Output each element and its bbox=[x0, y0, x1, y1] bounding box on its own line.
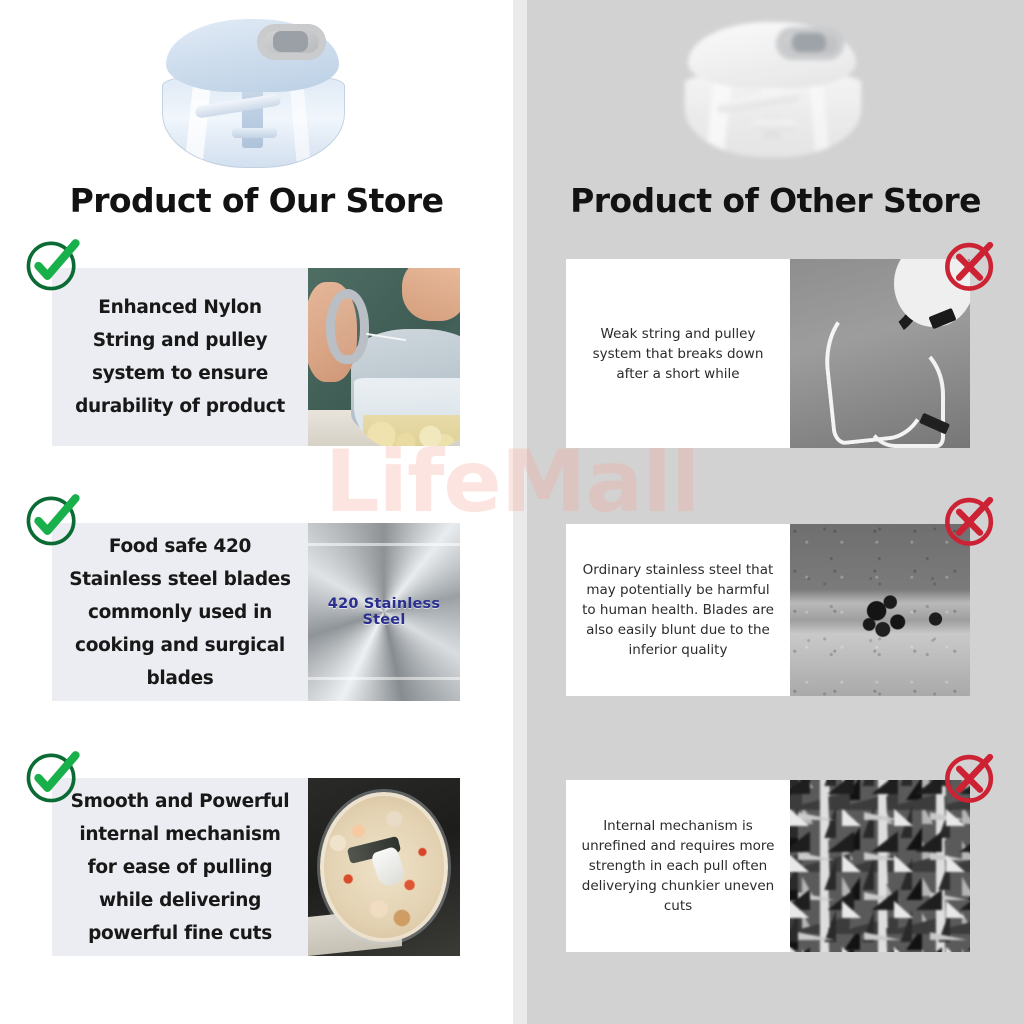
chopper-illustration bbox=[150, 6, 355, 171]
right-card-1-text-area: Weak string and pulley system that break… bbox=[566, 259, 790, 448]
chopper-handle-hole bbox=[792, 33, 826, 53]
x-circle-icon-1 bbox=[941, 236, 999, 294]
left-card-1-text: Enhanced Nylon String and pulley system … bbox=[66, 291, 294, 423]
brushed-steel-photo: 420 Stainless Steel bbox=[308, 523, 460, 701]
steel-highlight-bottom bbox=[308, 677, 460, 680]
loose-cord-lower bbox=[862, 342, 945, 448]
left-card-1-image bbox=[308, 268, 460, 446]
right-card-3-text-area: Internal mechanism is unrefined and requ… bbox=[566, 780, 790, 952]
left-card-2-text: Food safe 420 Stainless steel blades com… bbox=[66, 530, 294, 695]
left-card-3-image bbox=[308, 778, 460, 956]
chopper-illustration-faded bbox=[672, 10, 872, 160]
steel-highlight-top bbox=[308, 543, 460, 546]
left-feature-card-1: Enhanced Nylon String and pulley system … bbox=[52, 268, 460, 446]
chopped-vegetables-photo bbox=[308, 778, 460, 956]
rust-speck-cluster bbox=[858, 586, 919, 648]
pull-ring-handle bbox=[326, 289, 369, 364]
right-feature-card-1: Weak string and pulley system that break… bbox=[566, 259, 970, 448]
right-feature-card-3: Internal mechanism is unrefined and requ… bbox=[566, 780, 970, 952]
steel-grade-label: 420 Stainless Steel bbox=[308, 596, 460, 628]
x-circle-icon-2 bbox=[941, 491, 999, 549]
right-column-heading: Product of Other Store bbox=[527, 181, 1024, 220]
left-hero-product-image bbox=[150, 6, 355, 171]
right-card-2-text-area: Ordinary stainless steel that may potent… bbox=[566, 524, 790, 696]
check-circle-icon-1 bbox=[23, 236, 81, 294]
left-card-2-text-area: Food safe 420 Stainless steel blades com… bbox=[52, 523, 308, 701]
left-feature-card-2: Food safe 420 Stainless steel blades com… bbox=[52, 523, 460, 701]
x-circle-icon-3 bbox=[941, 748, 999, 806]
comparison-infographic: LifeMall Product of Our Store Product of… bbox=[0, 0, 1024, 1024]
right-card-2-image bbox=[790, 524, 970, 696]
right-card-2-text: Ordinary stainless steel that may potent… bbox=[578, 560, 778, 660]
right-card-3-text: Internal mechanism is unrefined and requ… bbox=[578, 816, 778, 916]
left-card-2-image: 420 Stainless Steel bbox=[308, 523, 460, 701]
left-feature-card-3: Smooth and Powerful internal mechanism f… bbox=[52, 778, 460, 956]
rust-speck-secondary bbox=[923, 607, 948, 631]
left-card-1-text-area: Enhanced Nylon String and pulley system … bbox=[52, 268, 308, 446]
check-circle-icon-2 bbox=[23, 491, 81, 549]
chopper-handle-hole bbox=[273, 31, 308, 52]
right-card-1-text: Weak string and pulley system that break… bbox=[578, 324, 778, 384]
chopper-blade-lower bbox=[752, 121, 796, 130]
right-hero-product-image bbox=[672, 10, 872, 160]
chopper-blade-lower bbox=[232, 128, 277, 138]
left-card-3-text: Smooth and Powerful internal mechanism f… bbox=[66, 785, 294, 950]
hand-right bbox=[402, 268, 460, 321]
chopper-bowl-closeup bbox=[354, 378, 460, 446]
rust-specks-photo bbox=[790, 524, 970, 696]
chopped-garlic bbox=[363, 415, 460, 446]
left-column-heading: Product of Our Store bbox=[0, 181, 513, 220]
panel-divider bbox=[513, 0, 527, 1024]
hand-pulling-string-photo bbox=[308, 268, 460, 446]
left-card-3-text-area: Smooth and Powerful internal mechanism f… bbox=[52, 778, 308, 956]
check-circle-icon-3 bbox=[23, 748, 81, 806]
right-feature-card-2: Ordinary stainless steel that may potent… bbox=[566, 524, 970, 696]
